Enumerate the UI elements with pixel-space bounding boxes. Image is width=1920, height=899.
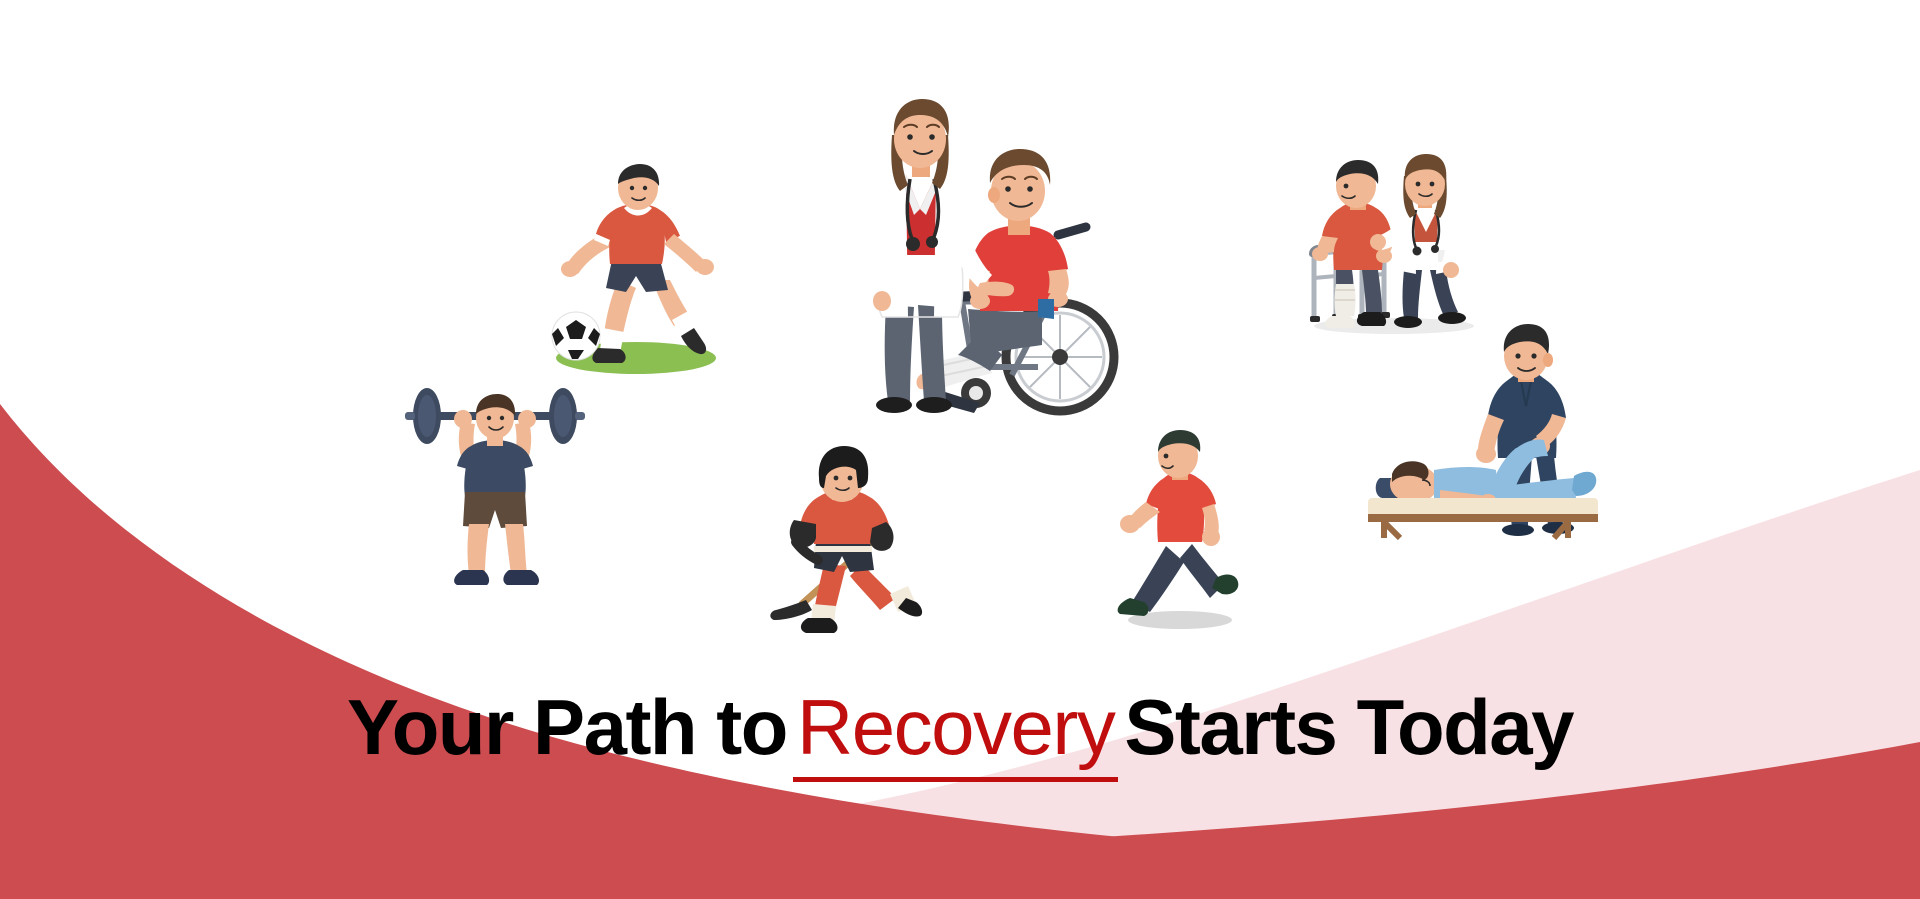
walker-rehab-illustration <box>1310 154 1474 334</box>
physio-table-therapy-illustration <box>1368 324 1598 538</box>
doctor-wheelchair-patient-illustration <box>873 99 1114 413</box>
hero-headline: Your Path toRecoveryStarts Today <box>0 688 1920 766</box>
headline-part-2: Starts Today <box>1124 683 1573 771</box>
hero-banner: Your Path toRecoveryStarts Today <box>0 0 1920 899</box>
weightlifter-illustration <box>405 388 585 585</box>
headline-part-1: Your Path to <box>347 683 787 771</box>
runner-illustration <box>1118 430 1239 629</box>
hockey-player-illustration <box>770 446 922 633</box>
headline-highlight-recovery: Recovery <box>793 683 1118 782</box>
soccer-player-illustration <box>552 164 716 374</box>
